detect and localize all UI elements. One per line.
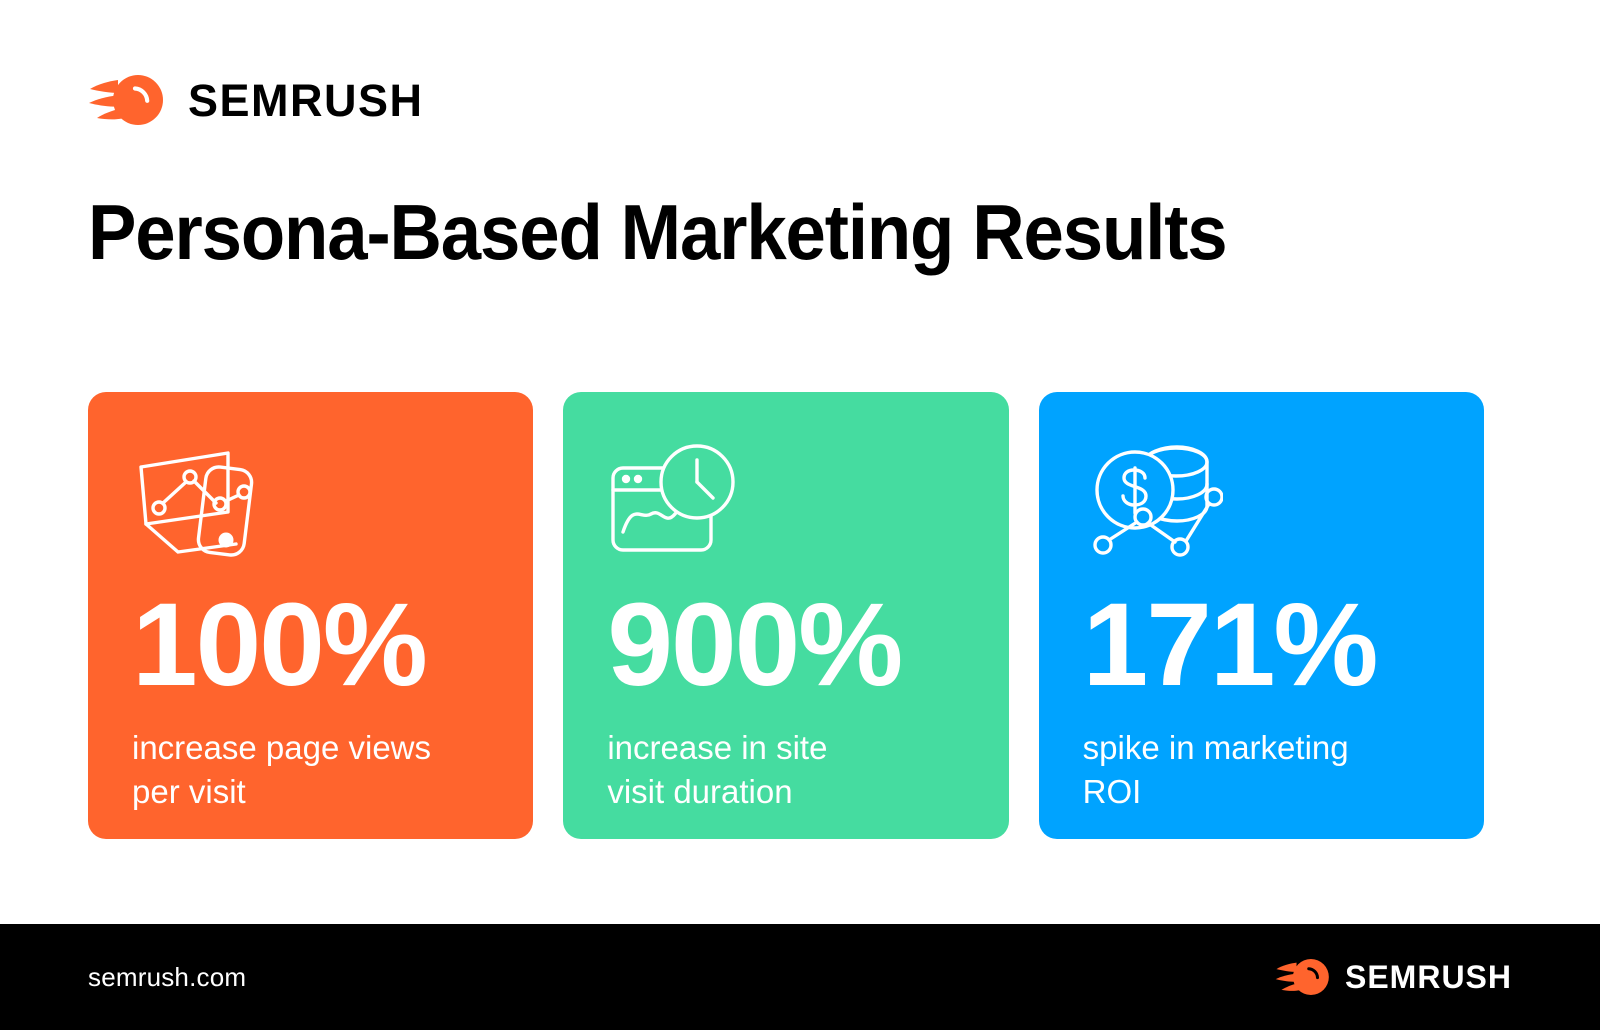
semrush-comet-icon (1275, 958, 1331, 996)
brand-logo-footer: SEMRUSH (1275, 958, 1512, 996)
footer-website-url[interactable]: semrush.com (88, 962, 246, 993)
brand-logo-header: SEMRUSH (88, 74, 424, 126)
stat-value: 100% (132, 586, 489, 704)
stat-value: 900% (607, 586, 964, 704)
laptop-chart-mobile-icon (132, 434, 489, 566)
stat-card-marketing-roi: 171% spike in marketing ROI (1039, 392, 1484, 839)
stat-label: increase page views per visit (132, 726, 489, 814)
page-title: Persona-Based Marketing Results (88, 192, 1227, 273)
stat-label: spike in marketing ROI (1083, 726, 1440, 814)
infographic-page: SEMRUSH Persona-Based Marketing Results (0, 0, 1600, 1030)
stat-card-visit-duration: 900% increase in site visit duration (563, 392, 1008, 839)
browser-chart-clock-icon (607, 434, 964, 566)
stat-card-page-views: 100% increase page views per visit (88, 392, 533, 839)
stat-label: increase in site visit duration (607, 726, 964, 814)
stat-value: 171% (1083, 586, 1440, 704)
brand-wordmark: SEMRUSH (188, 78, 424, 123)
brand-wordmark: SEMRUSH (1345, 961, 1512, 993)
coins-dollar-chart-icon (1083, 434, 1440, 566)
footer-bar: semrush.com SEMRUSH (0, 924, 1600, 1030)
semrush-comet-icon (88, 74, 166, 126)
stat-card-group: 100% increase page views per visit (88, 392, 1484, 839)
